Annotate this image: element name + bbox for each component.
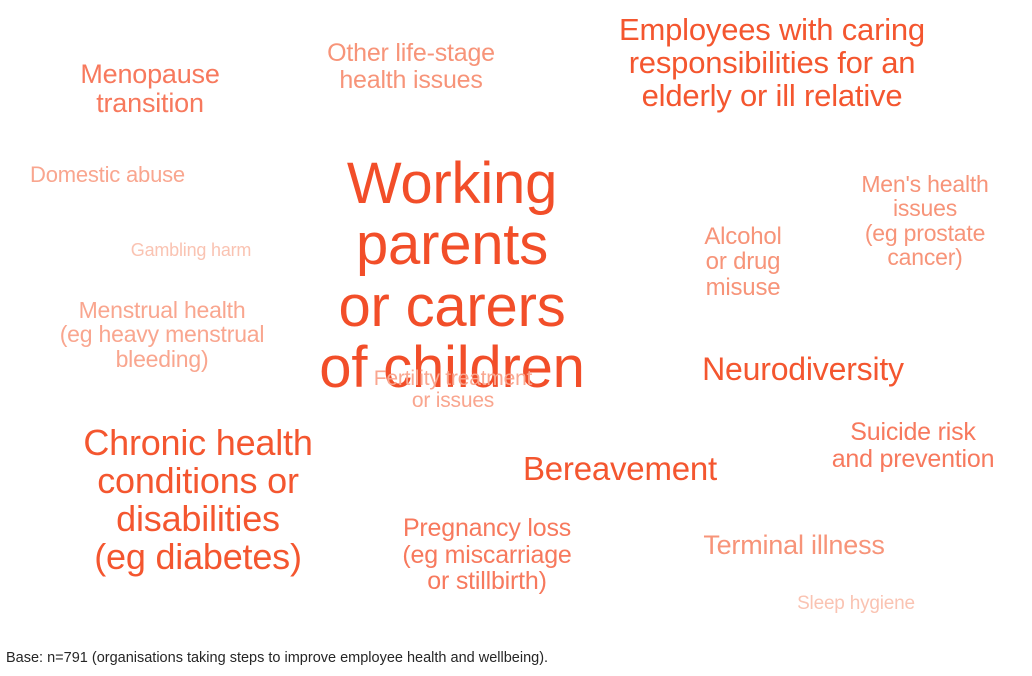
cloud-word: Alcohol or drug misuse xyxy=(688,224,798,300)
cloud-word: Working parents or carers of children xyxy=(276,153,628,399)
cloud-word: Fertility treatment or issues xyxy=(345,368,561,413)
base-footnote: Base: n=791 (organisations taking steps … xyxy=(6,650,548,666)
cloud-word: Terminal illness xyxy=(662,531,926,560)
cloud-word: Pregnancy loss (eg miscarriage or stillb… xyxy=(362,515,612,595)
cloud-word: Gambling harm xyxy=(112,241,270,260)
cloud-word: Neurodiversity xyxy=(672,353,934,387)
cloud-word: Menstrual health (eg heavy menstrual ble… xyxy=(28,298,296,371)
word-cloud-canvas: Working parents or carers of childrenEmp… xyxy=(0,0,1032,676)
cloud-word: Employees with caring responsibilities f… xyxy=(572,14,972,113)
cloud-word: Chronic health conditions or disabilitie… xyxy=(38,424,358,577)
cloud-word: Sleep hygiene xyxy=(778,594,934,614)
cloud-word: Other life-stage health issues xyxy=(297,40,525,93)
cloud-word: Suicide risk and prevention xyxy=(796,419,1030,472)
cloud-word: Bereavement xyxy=(490,452,750,487)
cloud-word: Domestic abuse xyxy=(30,163,230,186)
cloud-word: Men's health issues (eg prostate cancer) xyxy=(828,172,1022,270)
cloud-word: Menopause transition xyxy=(42,60,258,117)
